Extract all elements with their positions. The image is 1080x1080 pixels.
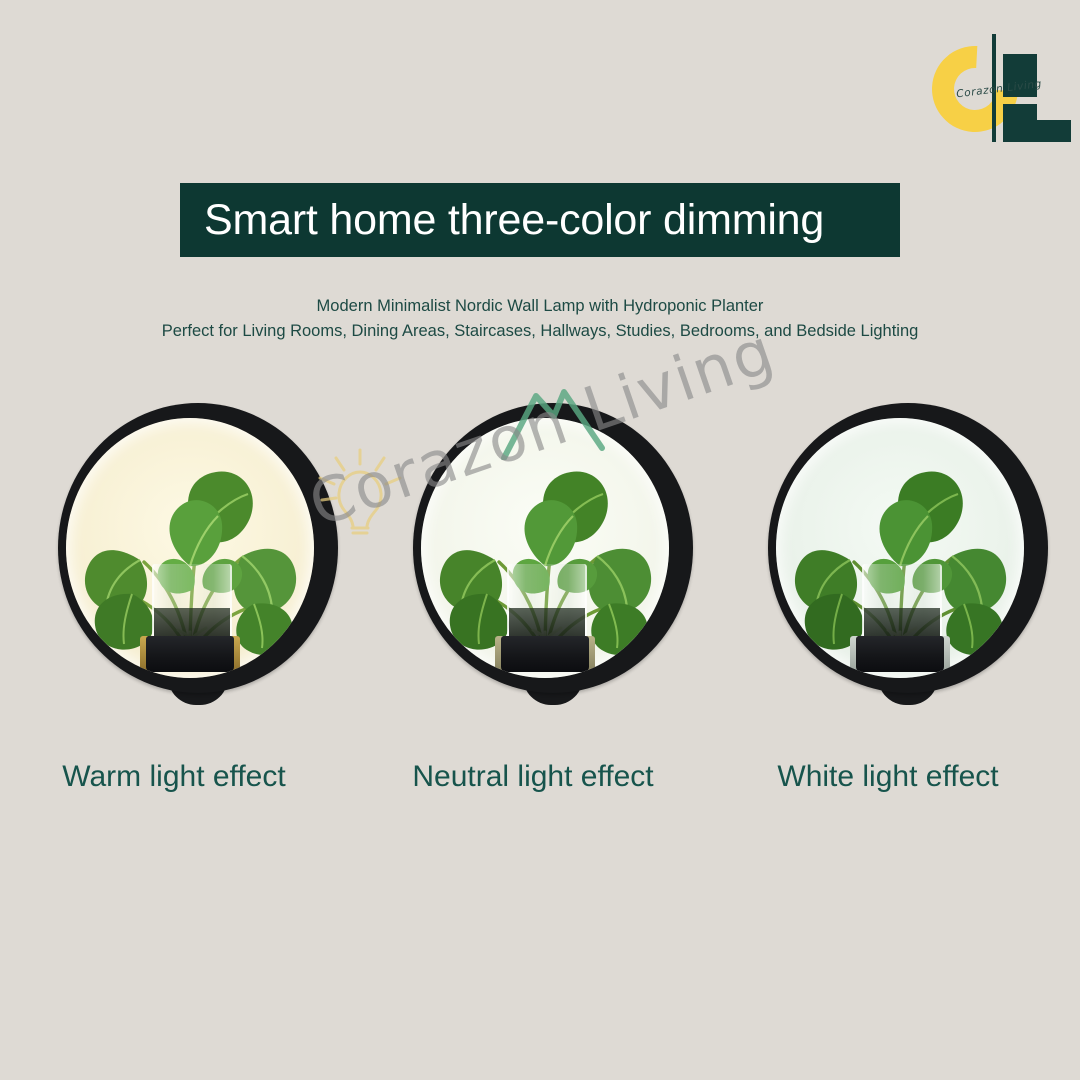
- lamp-base: [856, 636, 944, 672]
- lamp-glow-panel: [421, 418, 669, 678]
- lamp-glow-panel: [776, 418, 1024, 678]
- product-variant-white[interactable]: [760, 403, 1056, 708]
- page-title: Smart home three-color dimming: [180, 196, 824, 245]
- caption-neutral: Neutral light effect: [373, 760, 693, 794]
- subtitle-line-1: Modern Minimalist Nordic Wall Lamp with …: [0, 294, 1080, 319]
- caption-warm: Warm light effect: [14, 760, 334, 794]
- product-variant-row: [0, 403, 1080, 708]
- brand-logo: Corazon Living: [928, 34, 1050, 144]
- subtitle-block: Modern Minimalist Nordic Wall Lamp with …: [0, 294, 1080, 344]
- caption-white: White light effect: [728, 760, 1048, 794]
- product-variant-warm[interactable]: [50, 403, 346, 708]
- product-variant-neutral[interactable]: [405, 403, 701, 708]
- glass-vase: [862, 564, 942, 642]
- glass-vase: [152, 564, 232, 642]
- title-banner: Smart home three-color dimming: [180, 183, 900, 257]
- poster-canvas: Corazon Living Smart home three-color di…: [0, 0, 1080, 1080]
- variant-captions: Warm light effect Neutral light effect W…: [0, 760, 1080, 806]
- subtitle-line-2: Perfect for Living Rooms, Dining Areas, …: [0, 319, 1080, 344]
- glass-vase: [507, 564, 587, 642]
- lamp-base: [146, 636, 234, 672]
- logo-l-horizontal-icon: [1003, 120, 1071, 142]
- lamp-glow-panel: [66, 418, 314, 678]
- lamp-base: [501, 636, 589, 672]
